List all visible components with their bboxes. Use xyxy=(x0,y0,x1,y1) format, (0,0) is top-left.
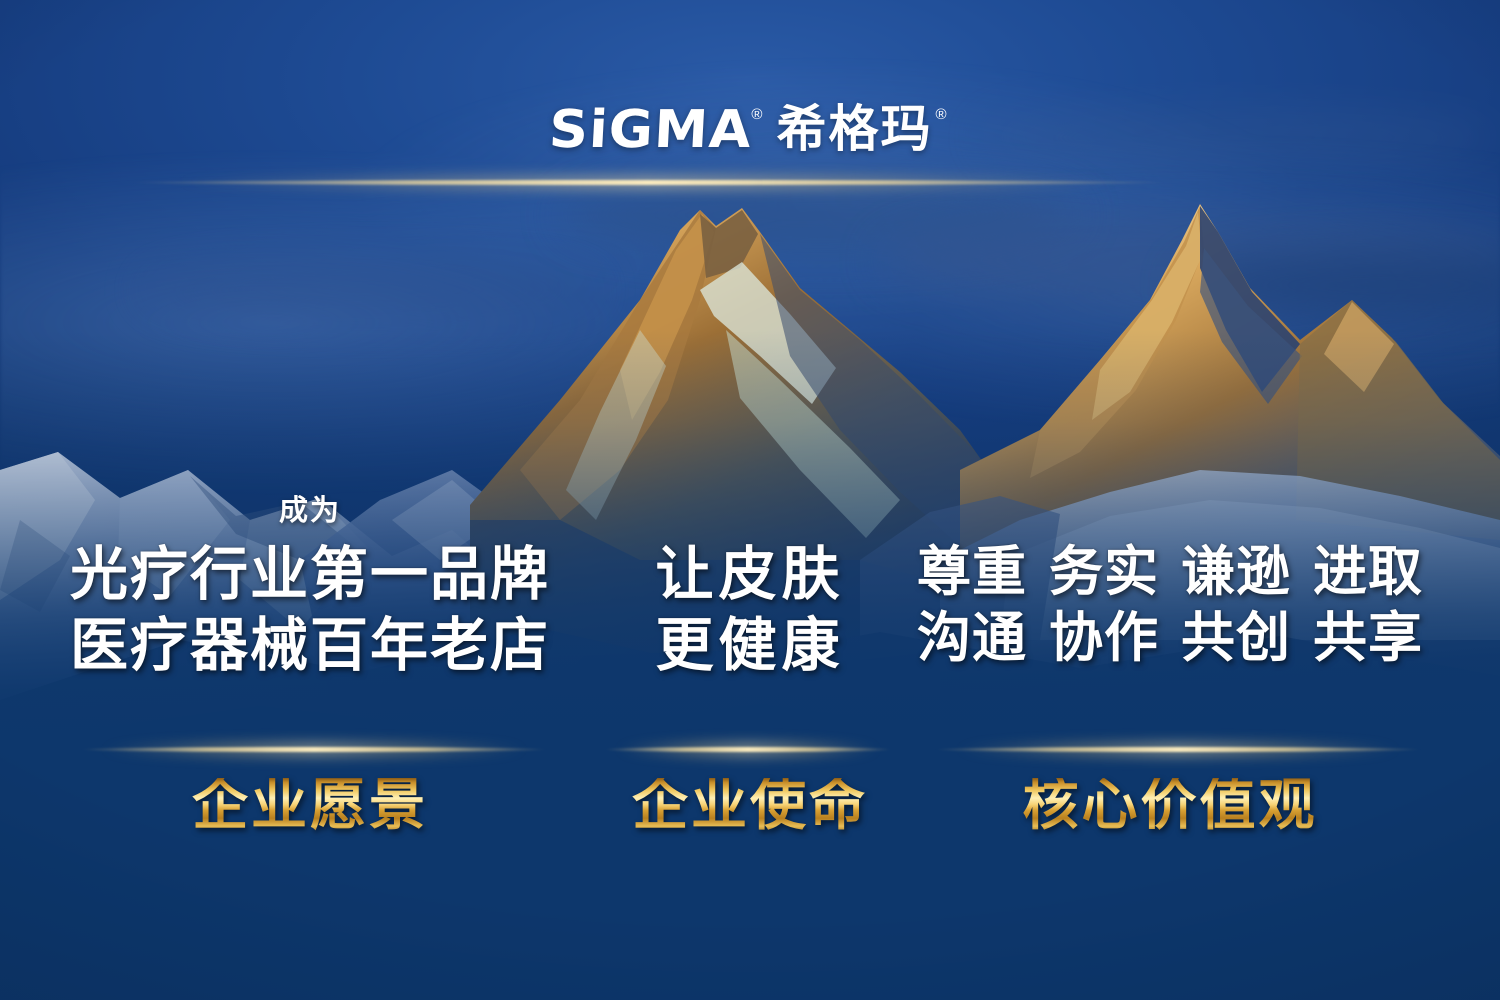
values-row-1: 尊重务实谦逊进取 xyxy=(905,539,1435,605)
vision-line-1: 光疗行业第一品牌 xyxy=(60,539,560,610)
values-gold-divider xyxy=(934,747,1422,752)
values-row-2: 沟通协作共创共享 xyxy=(905,605,1435,671)
mission-gold-divider xyxy=(604,747,892,752)
registered-trademark-icon: ® xyxy=(935,107,946,122)
sigma-chinese-wordmark: 希格玛® xyxy=(776,104,946,154)
heading-corporate-mission: 企业使命 xyxy=(600,778,900,834)
heading-corporate-vision: 企业愿景 xyxy=(60,778,560,834)
value-word: 共享 xyxy=(1313,605,1423,671)
value-word: 务实 xyxy=(1049,539,1159,605)
value-word: 谦逊 xyxy=(1181,539,1291,605)
column-vision: 成为 光疗行业第一品牌 医疗器械百年老店 xyxy=(60,495,560,680)
header-gold-divider xyxy=(128,180,1168,185)
value-word: 进取 xyxy=(1313,539,1423,605)
value-word: 尊重 xyxy=(917,539,1027,605)
vision-line-2: 医疗器械百年老店 xyxy=(60,610,560,681)
mission-line-1: 让皮肤 xyxy=(600,539,900,610)
value-word: 沟通 xyxy=(917,605,1027,671)
vision-kicker: 成为 xyxy=(60,495,560,527)
value-word: 共创 xyxy=(1181,605,1291,671)
vision-gold-divider xyxy=(80,747,548,752)
column-mission: 让皮肤 更健康 xyxy=(600,495,900,680)
sigma-latin-text: SiGMA xyxy=(548,104,753,156)
corporate-culture-poster: SiGMA® 希格玛® 成为 光疗行业第一品牌 医疗器械百年老店 让皮肤 更健康… xyxy=(0,0,1500,1000)
culture-columns: 成为 光疗行业第一品牌 医疗器械百年老店 让皮肤 更健康 尊重务实谦逊进取 沟通… xyxy=(0,495,1500,735)
column-values: 尊重务实谦逊进取 沟通协作共创共享 xyxy=(905,495,1435,671)
brand-logo: SiGMA® 希格玛® xyxy=(0,104,1500,156)
culture-headings: 企业愿景 企业使命 核心价值观 xyxy=(0,778,1500,868)
mission-line-2: 更健康 xyxy=(600,610,900,681)
heading-core-values: 核心价值观 xyxy=(905,778,1435,834)
registered-trademark-icon: ® xyxy=(751,107,762,122)
value-word: 协作 xyxy=(1049,605,1159,671)
sigma-wordmark: SiGMA® xyxy=(553,104,762,156)
sigma-chinese-text: 希格玛 xyxy=(776,104,932,154)
